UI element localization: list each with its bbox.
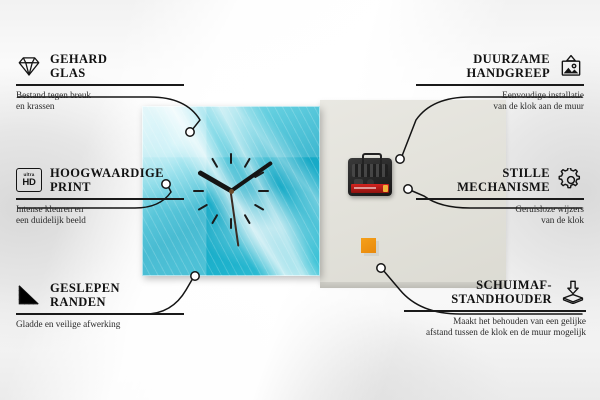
feature-title-line1: SCHUIMAF- (476, 278, 552, 292)
feature-divider (416, 84, 584, 86)
feature-title-line2: MECHANISME (457, 180, 550, 194)
press-down-pad-icon (560, 280, 586, 304)
feature-gehard-glas: GEHARD GLAS Bestand tegen breuk en krass… (16, 52, 184, 113)
ultra-hd-icon-main-text: HD (22, 178, 35, 188)
feature-title-line2: HANDGREEP (467, 66, 550, 80)
feature-subtitle-line1: Gladde en veilige afwerking (16, 319, 120, 329)
hanger-handle-icon (362, 153, 382, 164)
gear-icon (558, 168, 584, 192)
clock-center-hub (229, 189, 234, 194)
feature-title-line1: STILLE (502, 166, 550, 180)
feature-subtitle-line2: van de klok aan de muur (493, 101, 584, 111)
feature-title-line2: GLAS (50, 66, 86, 80)
feature-divider (404, 310, 586, 312)
feature-divider (416, 198, 584, 200)
foam-spacer (361, 238, 376, 253)
feature-subtitle-line2: van de klok (541, 215, 584, 225)
feature-duurzame-handgreep: DUURZAME HANDGREEP Eenvoudige installati… (416, 52, 584, 113)
feature-stille-mechanisme: STILLE MECHANISME Geruisloze wijzers van… (416, 166, 584, 227)
feature-title-line2: STANDHOUDER (451, 292, 552, 306)
feature-title-line2: RANDEN (50, 295, 106, 309)
infographic-canvas: GEHARD GLAS Bestand tegen breuk en krass… (0, 0, 600, 400)
feature-subtitle-line1: Geruisloze wijzers (515, 204, 584, 214)
feature-subtitle-line1: Bestand tegen breuk (16, 90, 91, 100)
feature-title-line1: GESLEPEN (50, 281, 120, 295)
beveled-edge-icon (16, 283, 42, 307)
feature-divider (16, 198, 184, 200)
diamond-icon (16, 54, 42, 78)
feature-subtitle-line2: een duidelijk beeld (16, 215, 86, 225)
feature-geslepen-randen: GESLEPEN RANDEN Gladde en veilige afwerk… (16, 281, 184, 330)
clock-movement-box (348, 158, 392, 196)
feature-divider (16, 313, 184, 315)
feature-title-line2: PRINT (50, 180, 91, 194)
feature-title-line1: DUURZAME (473, 52, 550, 66)
feature-divider (16, 84, 184, 86)
feature-title-line1: HOOGWAARDIGE (50, 166, 164, 180)
battery (351, 184, 389, 193)
feature-hoogwaardige-print: ultra HD HOOGWAARDIGE PRINT Intense kleu… (16, 166, 184, 227)
feature-subtitle-line2: afstand tussen de klok en de muur mogeli… (426, 327, 586, 337)
feature-subtitle-line2: en krassen (16, 101, 55, 111)
ultra-hd-icon: ultra HD (16, 168, 42, 192)
feature-subtitle-line1: Eenvoudige installatie (502, 90, 584, 100)
picture-frame-icon (558, 54, 584, 78)
feature-subtitle-line1: Maakt het behouden van een gelijke (453, 316, 586, 326)
movement-grill (352, 164, 388, 177)
feature-subtitle-line1: Intense kleuren en (16, 204, 83, 214)
feature-title-line1: GEHARD (50, 52, 107, 66)
feature-schuimafstandhouder: SCHUIMAF- STANDHOUDER Maakt het behouden… (404, 278, 586, 339)
